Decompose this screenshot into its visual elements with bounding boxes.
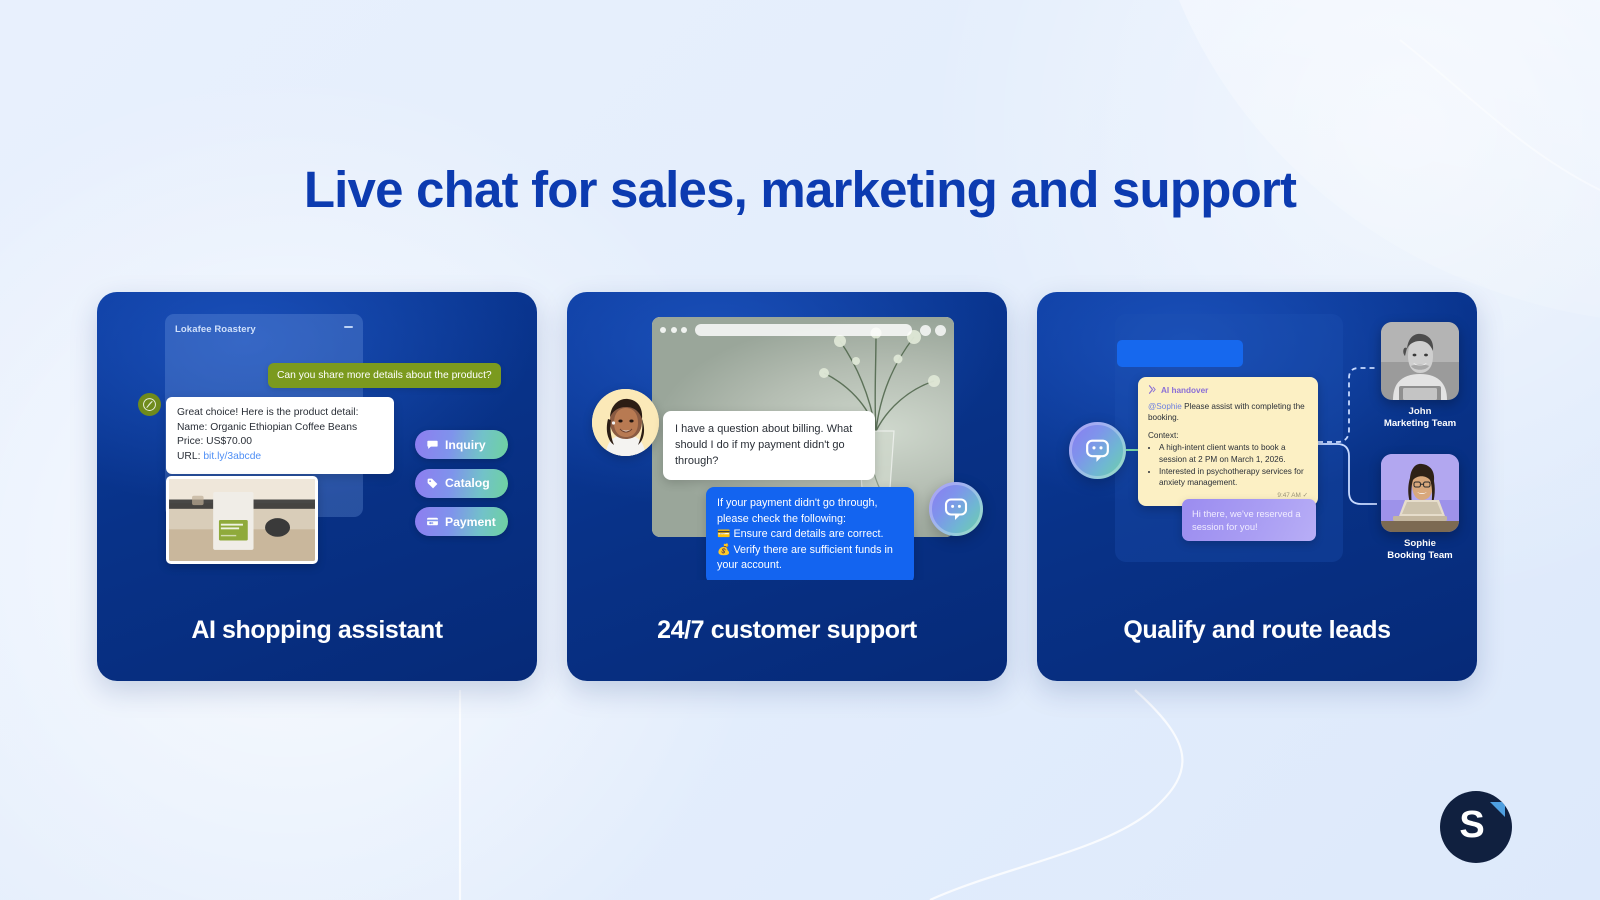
agent-name-sophie-text: Sophie (1404, 538, 1436, 549)
card-2-illustration: I have a question about billing. What sh… (567, 292, 1007, 580)
chat-bot-glyph (1082, 435, 1113, 466)
support-reply-bubble: If your payment didn't go through, pleas… (706, 487, 914, 580)
card-qualify-route-leads[interactable]: AI handover @Sophie Please assist with c… (1037, 292, 1477, 681)
coffee-bean-avatar-icon (138, 393, 161, 416)
chat-bot-orb-icon[interactable] (1069, 422, 1126, 479)
quick-action-buttons: Inquiry Catalog Payment (415, 430, 508, 536)
user-message-bubble: Can you share more details about the pro… (268, 363, 501, 388)
agent-team-sophie-text: Booking Team (1387, 550, 1452, 561)
address-bar[interactable] (695, 324, 912, 336)
page-title: Live chat for sales, marketing and suppo… (0, 160, 1600, 220)
ai-handover-label: AI handover (1161, 386, 1208, 395)
agent-name-sophie: Sophie Booking Team (1381, 538, 1459, 562)
bot-message-bubble: Great choice! Here is the product detail… (166, 397, 394, 474)
handover-intro-line: @Sophie Please assist with completing th… (1148, 401, 1308, 424)
url-label: URL: (177, 451, 203, 462)
support-line-3: 💰 Verify there are sufficient funds in y… (717, 543, 903, 574)
triangle-accent-icon (1490, 802, 1505, 817)
card-customer-support[interactable]: I have a question about billing. What sh… (567, 292, 1007, 681)
context-bullet-1: A high-intent client wants to book a ses… (1159, 442, 1308, 465)
credit-card-icon (425, 515, 439, 529)
customer-avatar-art (592, 389, 659, 456)
action-label-inquiry: Inquiry (445, 438, 486, 452)
mention-sophie[interactable]: @Sophie (1148, 402, 1182, 411)
agent-card-john[interactable]: John Marketing Team (1381, 322, 1459, 430)
minimize-icon[interactable] (344, 326, 353, 328)
page-root: Live chat for sales, marketing and suppo… (0, 0, 1600, 900)
action-button-payment[interactable]: Payment (415, 507, 508, 536)
action-button-catalog[interactable]: Catalog (415, 469, 508, 498)
agent-reply-bubble: Hi there, we've reserved a session for y… (1182, 499, 1316, 541)
card-ai-shopping-assistant[interactable]: Lokafee Roastery Can you share more deta… (97, 292, 537, 681)
agent-photo-sophie (1381, 454, 1459, 532)
tag-icon (425, 476, 439, 490)
card-3-illustration: AI handover @Sophie Please assist with c… (1037, 292, 1477, 580)
agent-team-john-text: Marketing Team (1384, 418, 1456, 429)
context-bullet-list: A high-intent client wants to book a ses… (1159, 442, 1308, 488)
coffee-bean-glyph (142, 397, 157, 412)
customer-avatar (592, 389, 659, 456)
product-photo-art (169, 479, 315, 561)
ai-handover-icon (1148, 385, 1157, 396)
card-title-1: AI shopping assistant (97, 616, 537, 645)
ai-handover-note: AI handover @Sophie Please assist with c… (1138, 377, 1318, 506)
chat-window-title: Lokafee Roastery (175, 324, 256, 335)
brand-logo[interactable]: S (1440, 791, 1512, 863)
card-1-illustration: Lokafee Roastery Can you share more deta… (97, 292, 537, 580)
context-bullet-2: Interested in psychotherapy services for… (1159, 466, 1308, 489)
feature-cards-row: Lokafee Roastery Can you share more deta… (97, 292, 1477, 681)
agent-photo-sophie-art (1381, 454, 1459, 532)
support-line-2: 💳 Ensure card details are correct. (717, 527, 903, 543)
bot-line-1: Great choice! Here is the product detail… (177, 406, 383, 421)
ai-handover-badge: AI handover (1148, 385, 1308, 396)
bot-line-2: Name: Organic Ethiopian Coffee Beans (177, 421, 383, 436)
chat-bot-orb-icon[interactable] (929, 482, 983, 536)
bot-line-4: URL: bit.ly/3abcde (177, 450, 383, 465)
context-label: Context: (1148, 430, 1308, 441)
action-label-catalog: Catalog (445, 476, 490, 490)
agent-photo-john-art (1381, 322, 1459, 400)
logo-letter: S (1459, 806, 1484, 844)
customer-message-bubble: I have a question about billing. What sh… (663, 411, 875, 480)
window-dots-icon (660, 327, 687, 333)
action-button-inquiry[interactable]: Inquiry (415, 430, 508, 459)
agent-photo-john (1381, 322, 1459, 400)
card-title-3: Qualify and route leads (1037, 616, 1477, 645)
action-label-payment: Payment (445, 515, 496, 529)
browser-chrome (652, 317, 954, 343)
support-line-1: If your payment didn't go through, pleas… (717, 496, 903, 527)
chat-bubble-icon (425, 438, 439, 452)
agent-name-john: John Marketing Team (1381, 406, 1459, 430)
chat-bot-glyph (941, 494, 971, 524)
ai-handover-body: @Sophie Please assist with completing th… (1148, 401, 1308, 488)
agent-name-john-text: John (1409, 406, 1432, 417)
agent-card-sophie[interactable]: Sophie Booking Team (1381, 454, 1459, 562)
product-url-link[interactable]: bit.ly/3abcde (203, 451, 261, 462)
message-placeholder-bar (1117, 340, 1243, 367)
bot-line-3: Price: US$70.00 (177, 435, 383, 450)
window-controls-icon[interactable] (920, 325, 946, 336)
card-title-2: 24/7 customer support (567, 616, 1007, 645)
product-photo (166, 476, 318, 564)
